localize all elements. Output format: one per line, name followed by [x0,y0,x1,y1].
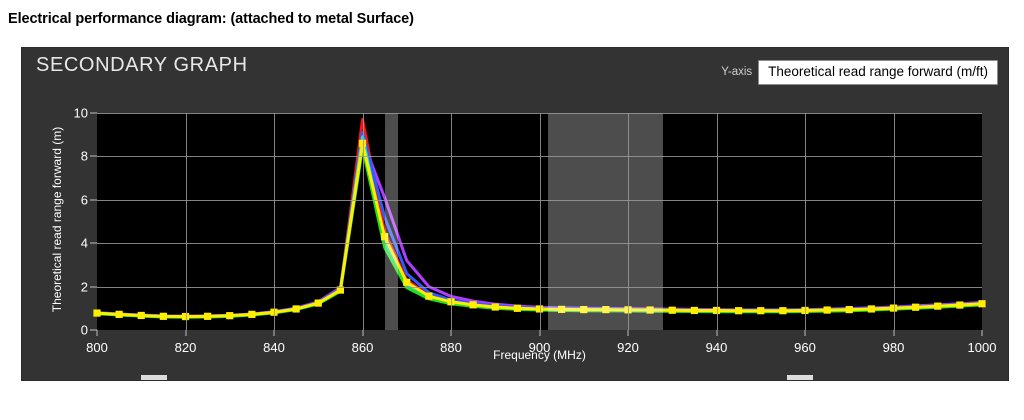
data-point-marker [868,305,875,312]
left-range-handle[interactable] [141,375,167,380]
page-title: Electrical performance diagram: (attache… [8,11,414,27]
highlight-band [385,113,398,330]
x-tick-mark [451,330,452,336]
gridline-vertical [186,113,187,330]
data-point-marker [779,307,786,314]
data-point-marker [956,301,963,308]
data-point-marker [138,312,145,319]
data-point-marker [160,313,167,320]
gridline-vertical [717,113,718,330]
data-point-marker [315,299,322,306]
right-range-handle[interactable] [787,375,813,380]
y-tick-label: 8 [81,149,97,164]
data-point-marker [425,293,432,300]
x-tick-mark [805,330,806,336]
x-tick-mark [362,330,363,336]
data-point-marker [93,309,100,316]
data-point-marker [757,307,764,314]
data-point-marker [403,279,410,286]
gridline-vertical [894,113,895,330]
gridline-vertical [451,113,452,330]
y-tick-label: 6 [81,192,97,207]
x-tick-mark [274,330,275,336]
data-point-marker [514,305,521,312]
plot-area[interactable]: Theoretical read range forward (m) 02468… [97,113,982,330]
gridline-vertical [363,113,364,330]
data-point-marker [116,311,123,318]
plot-wrapper: Theoretical read range forward (m) 02468… [22,48,1008,380]
x-tick-mark [185,330,186,336]
x-axis-label: Frequency (MHz) [97,348,982,362]
data-point-marker [669,307,676,314]
data-point-marker [824,306,831,313]
x-tick-mark [716,330,717,336]
x-tick-mark [893,330,894,336]
data-point-marker [248,311,255,318]
y-axis-label: Theoretical read range forward (m) [49,111,65,328]
secondary-graph-panel: SECONDARY GRAPH Y-axis Theoretical read … [22,48,1008,380]
data-point-marker [735,307,742,314]
gridline-vertical [805,113,806,330]
data-point-marker [934,303,941,310]
data-point-marker [204,313,211,320]
x-tick-mark [982,330,983,336]
data-point-marker [492,303,499,310]
data-point-marker [226,312,233,319]
data-point-marker [470,301,477,308]
x-tick-mark [628,330,629,336]
data-point-marker [912,304,919,311]
y-tick-label: 10 [74,106,97,121]
gridline-vertical [628,113,629,330]
y-tick-label: 4 [81,236,97,251]
highlight-band [548,113,663,330]
data-point-marker [978,300,985,307]
y-tick-label: 0 [81,323,97,338]
x-tick-mark [539,330,540,336]
gridline-vertical [274,113,275,330]
y-tick-label: 2 [81,279,97,294]
data-point-marker [846,306,853,313]
x-tick-mark [97,330,98,336]
gridline-vertical [540,113,541,330]
data-point-marker [293,305,300,312]
data-point-marker [691,307,698,314]
